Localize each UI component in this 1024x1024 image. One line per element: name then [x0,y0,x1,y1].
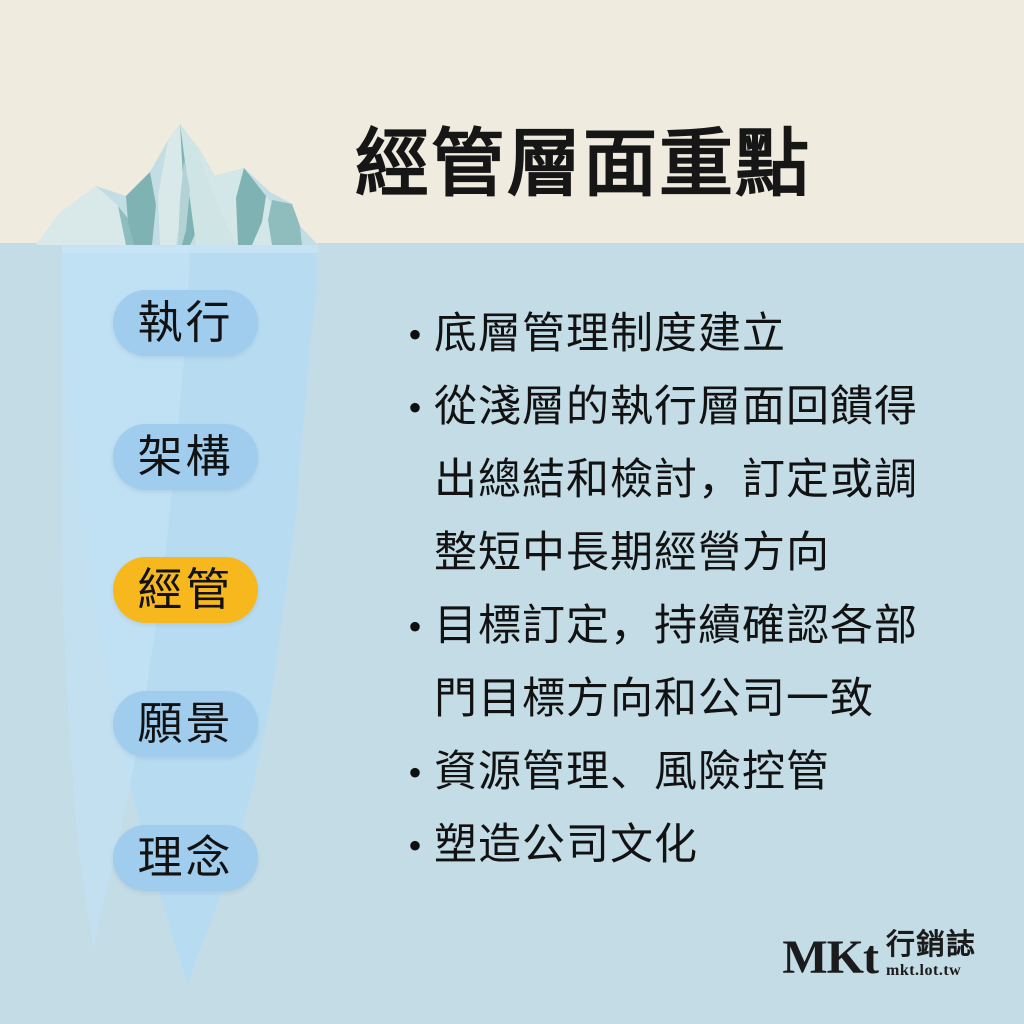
list-item-text: 目標訂定，持續確認各部 門目標方向和公司一致 [434,590,970,736]
iceberg-layer-label: 架構 [137,435,233,480]
list-item-line: 從淺層的執行層面回饋得 [434,371,970,444]
bullet-icon: • [400,298,434,371]
list-item-text: 從淺層的執行層面回饋得 出總結和檢討，訂定或調 整短中長期經營方向 [434,371,970,590]
page-title: 經管層面重點 [355,128,895,202]
infographic-canvas: 經管層面重點 執行 架構 經管 願景 理念 • 底層管理制度建立 • 從淺層的執… [0,0,1024,1024]
list-item-text: 資源管理、風險控管 [434,736,970,809]
bullet-icon: • [400,590,434,663]
list-item-line: 整短中長期經營方向 [434,517,970,590]
list-item: • 底層管理制度建立 [400,298,970,371]
list-item-line: 塑造公司文化 [434,809,970,882]
key-points-list: • 底層管理制度建立 • 從淺層的執行層面回饋得 出總結和檢討，訂定或調 整短中… [400,298,970,882]
iceberg-layer-label: 執行 [137,301,233,346]
iceberg-layer-label: 經管 [137,568,233,613]
iceberg-layer-structure[interactable]: 架構 [113,424,258,490]
list-item-line: 資源管理、風險控管 [434,736,970,809]
list-item: • 目標訂定，持續確認各部 門目標方向和公司一致 [400,590,970,736]
iceberg-layer-execution[interactable]: 執行 [113,290,258,356]
list-item-text: 塑造公司文化 [434,809,970,882]
iceberg-layer-vision[interactable]: 願景 [113,691,258,757]
list-item: • 資源管理、風險控管 [400,736,970,809]
logo-chinese-name: 行銷誌 [886,930,976,960]
bullet-icon: • [400,809,434,882]
logo-wordmark: MKt [782,934,878,982]
logo-text-group: 行銷誌 mkt.lot.tw [886,930,976,982]
iceberg-layer-label: 願景 [137,702,233,747]
logo-url: mkt.lot.tw [886,961,961,980]
list-item-text: 底層管理制度建立 [434,298,970,371]
list-item-line: 門目標方向和公司一致 [434,663,970,736]
bullet-icon: • [400,736,434,809]
bullet-icon: • [400,371,434,444]
list-item: • 塑造公司文化 [400,809,970,882]
iceberg-layer-label: 理念 [137,836,233,881]
iceberg-layer-management[interactable]: 經管 [113,557,258,623]
list-item-line: 目標訂定，持續確認各部 [434,590,970,663]
list-item-line: 出總結和檢討，訂定或調 [434,444,970,517]
ice-block-far-right [268,200,302,245]
brand-logo[interactable]: MKt 行銷誌 mkt.lot.tw [782,930,976,982]
list-item-line: 底層管理制度建立 [434,298,970,371]
iceberg-layer-philosophy[interactable]: 理念 [113,825,258,891]
list-item: • 從淺層的執行層面回饋得 出總結和檢討，訂定或調 整短中長期經營方向 [400,371,970,590]
